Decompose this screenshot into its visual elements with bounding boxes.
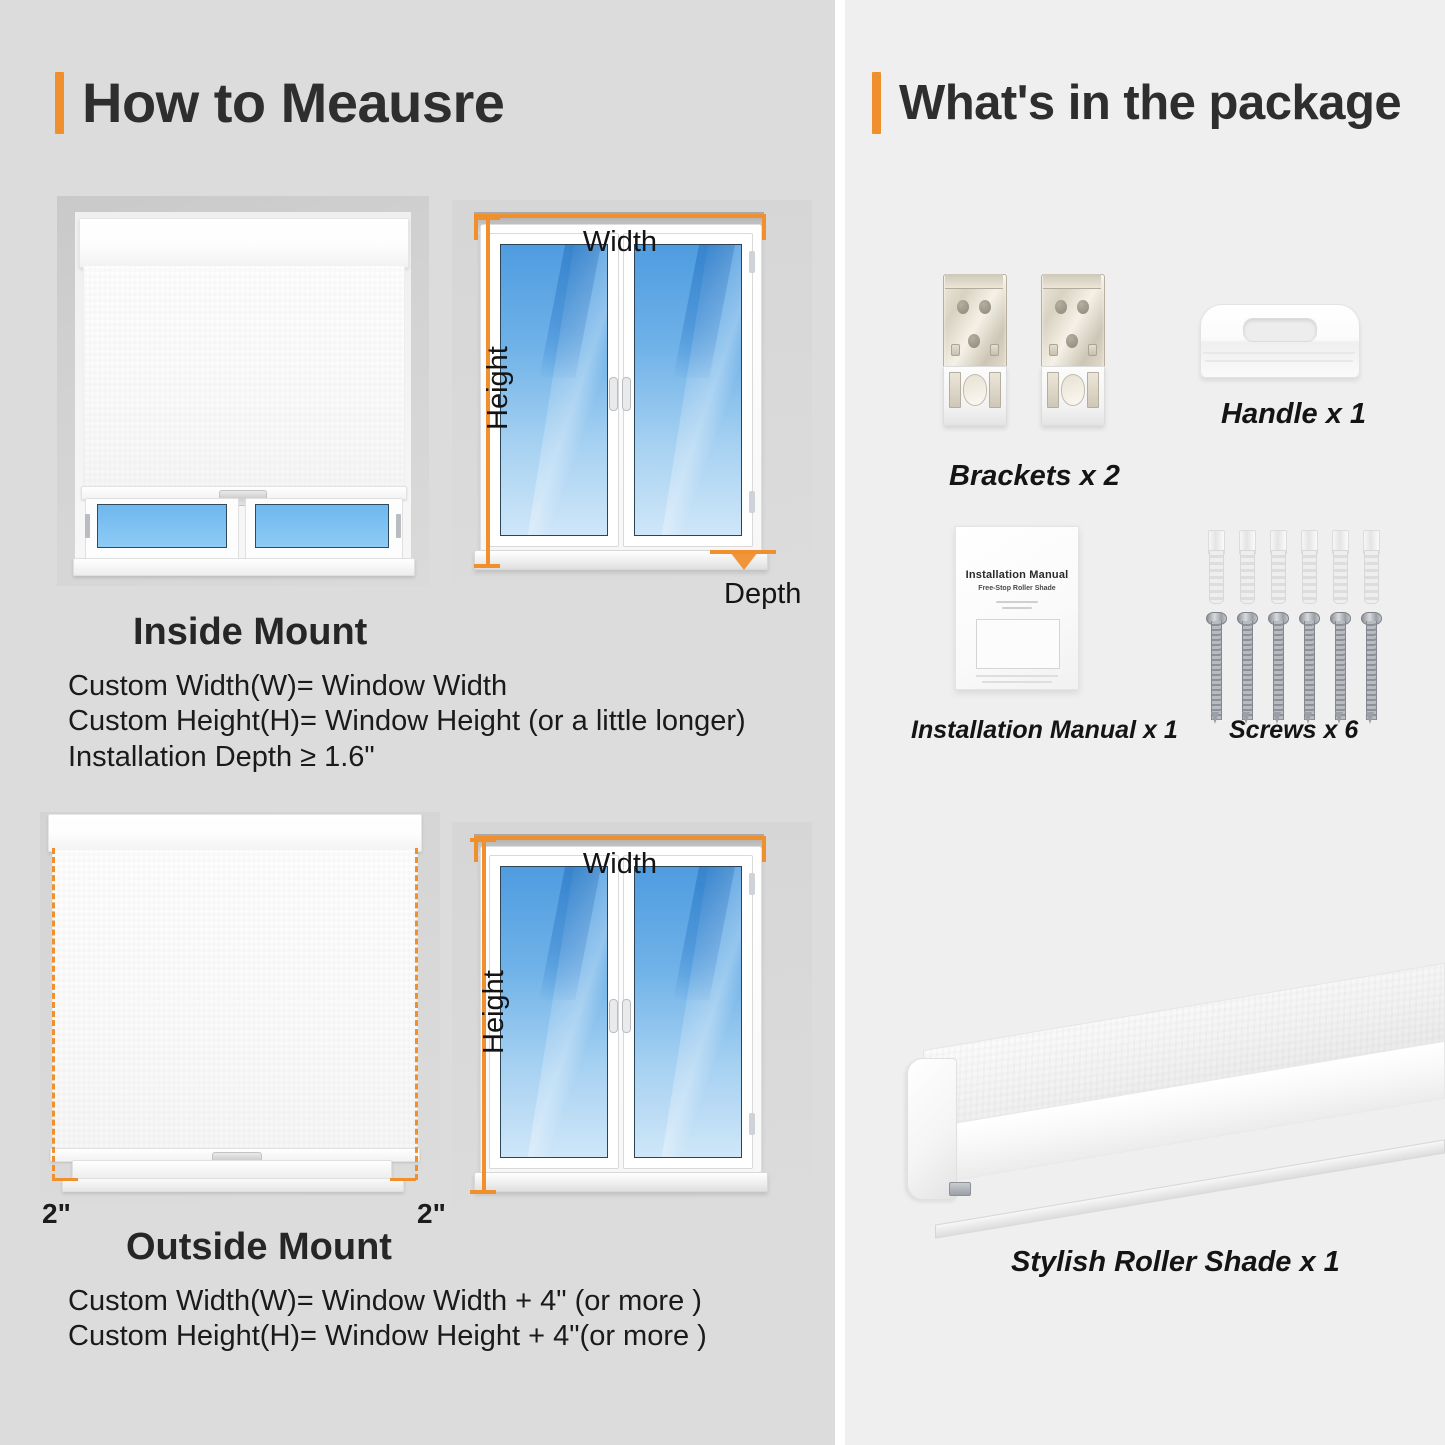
screws-label: Screws x 6 — [1229, 716, 1358, 745]
height-measure-cap-bottom-2 — [470, 1190, 496, 1194]
anchor-body-4 — [1302, 550, 1317, 604]
inside-mount-line-1: Custom Width(W)= Window Width — [68, 669, 746, 704]
screw-icon-5 — [1330, 612, 1349, 720]
overhang-label-right: 2" — [417, 1198, 446, 1230]
outside-mount-title: Outside Mount — [126, 1226, 392, 1269]
outside-mount-measure-diagram: Width Height — [452, 822, 812, 1222]
sash-hinge-top-2 — [749, 873, 755, 895]
overhang-tick-right — [390, 1178, 416, 1181]
width-measure-line — [474, 214, 766, 218]
screw-shaft-1 — [1211, 621, 1222, 720]
wall-anchor-icon-3 — [1268, 530, 1287, 602]
wall-anchor-icon-2 — [1237, 530, 1256, 602]
glass-pane-right — [634, 244, 742, 536]
window-sill — [73, 558, 415, 576]
outside-mount-line-2: Custom Height(H)= Window Height + 4"(or … — [68, 1319, 707, 1354]
manual-scribble-1 — [996, 601, 1038, 603]
overhang-label-left: 2" — [42, 1198, 71, 1230]
sash-hinge-bottom — [749, 491, 755, 513]
glass-pane-left — [500, 244, 608, 536]
window-handle-right-2[interactable] — [622, 999, 631, 1033]
manual-cover-subtitle: Free-Stop Roller Shade — [956, 585, 1078, 592]
window-handle-left-2[interactable] — [609, 999, 618, 1033]
height-label-2: Height — [478, 970, 511, 1054]
sash-hinge-bottom-2 — [749, 1113, 755, 1135]
window-glass-left — [97, 504, 227, 548]
anchor-body-6 — [1364, 550, 1379, 604]
anchor-body-2 — [1240, 550, 1255, 604]
outside-mount-text: Custom Width(W)= Window Width + 4" (or m… — [68, 1284, 707, 1355]
height-measure-cap-top-2 — [470, 838, 496, 842]
height-label: Height — [482, 346, 515, 430]
wall-anchor-icon-1 — [1206, 530, 1225, 602]
glass-pane-right-2 — [634, 866, 742, 1158]
screw-tip-1 — [1211, 712, 1219, 724]
manual-icon: Installation Manual Free-Stop Roller Sha… — [955, 526, 1079, 690]
anchor-body-1 — [1209, 550, 1224, 604]
width-measure-cap-right — [762, 214, 766, 240]
height-measure-cap-top — [474, 216, 500, 220]
screw-icon-3 — [1268, 612, 1287, 720]
infographic-page: How to Meausre — [0, 0, 1445, 1445]
roller-shade-label: Stylish Roller Shade x 1 — [1011, 1246, 1340, 1279]
screw-shaft-4 — [1304, 621, 1315, 720]
anchor-body-3 — [1271, 550, 1286, 604]
left-panel-heading: How to Meausre — [55, 72, 504, 134]
inside-mount-measure-diagram: Width Height Depth — [452, 200, 812, 600]
outside-mount-line-1: Custom Width(W)= Window Width + 4" (or m… — [68, 1284, 707, 1319]
window-handle-left[interactable] — [609, 377, 618, 411]
window-hinge-right — [396, 514, 401, 538]
window-outer-frame — [480, 224, 762, 556]
window-sill-outside — [72, 1160, 392, 1180]
shade-fabric — [83, 266, 405, 488]
brackets-label: Brackets x 2 — [949, 460, 1120, 493]
package-contents-panel: What's in the package — [845, 0, 1445, 1445]
screw-shaft-5 — [1335, 621, 1346, 720]
screw-shaft-2 — [1242, 621, 1253, 720]
sash-right-2 — [623, 855, 753, 1169]
depth-label: Depth — [724, 578, 801, 611]
glass-glint-right — [673, 245, 735, 378]
shade-valance — [79, 218, 409, 268]
sash-hinge-top — [749, 251, 755, 273]
screw-shaft-6 — [1366, 621, 1377, 720]
glass-glint-left-2 — [539, 867, 601, 1000]
panel-divider — [835, 0, 845, 1445]
screw-icon-2 — [1237, 612, 1256, 720]
screw-icon-6 — [1361, 612, 1380, 720]
manual-scribble-2 — [1002, 607, 1032, 609]
roller-shade-end-cap — [907, 1058, 957, 1200]
manual-footer-line-1 — [976, 675, 1058, 677]
how-to-measure-panel: How to Meausre — [0, 0, 835, 1445]
width-measure-cap-right-2 — [762, 836, 766, 862]
shade-fabric-outside — [52, 850, 418, 1150]
inside-mount-text: Custom Width(W)= Window Width Custom Hei… — [68, 669, 746, 775]
manual-cover-title: Installation Manual — [956, 569, 1078, 581]
wall-anchor-icon-5 — [1330, 530, 1349, 602]
inside-mount-title: Inside Mount — [133, 611, 367, 654]
outside-mount-shade-illustration — [40, 812, 440, 1202]
glass-glint-left — [539, 245, 601, 378]
accent-bar-icon — [55, 72, 64, 134]
manual-diagram-box — [976, 619, 1060, 669]
inside-mount-shade-illustration — [57, 196, 429, 586]
inside-mount-line-3: Installation Depth ≥ 1.6" — [68, 740, 746, 775]
left-heading-text: How to Meausre — [82, 75, 504, 131]
wall-anchor-icon-4 — [1299, 530, 1318, 602]
anchor-body-5 — [1333, 550, 1348, 604]
overhang-tick-left — [52, 1178, 78, 1181]
wall-anchor-icon-6 — [1361, 530, 1380, 602]
width-label-2: Width — [583, 848, 657, 881]
depth-measure-wedge — [730, 552, 758, 570]
window-hinge-left — [85, 514, 90, 538]
width-measure-line-2 — [474, 836, 766, 840]
roller-shade-icon — [845, 0, 1445, 420]
width-label: Width — [583, 226, 657, 259]
glass-pane-left-2 — [500, 866, 608, 1158]
glass-glint-right-2 — [673, 867, 735, 1000]
inside-mount-line-2: Custom Height(H)= Window Height (or a li… — [68, 704, 746, 739]
screw-icon-4 — [1299, 612, 1318, 720]
manual-label: Installation Manual x 1 — [911, 716, 1178, 745]
sash-right — [623, 233, 753, 547]
screw-tip-6 — [1366, 712, 1374, 724]
window-glass-right — [255, 504, 389, 548]
shade-valance-outside — [48, 814, 422, 852]
overhang-guide-left — [52, 848, 55, 1180]
overhang-guide-right — [415, 848, 418, 1180]
height-measure-cap-bottom — [474, 564, 500, 568]
screw-shaft-3 — [1273, 621, 1284, 720]
screw-icon-1 — [1206, 612, 1225, 720]
window-outer-frame-2 — [480, 846, 762, 1178]
window-sill-outside-lip — [62, 1178, 404, 1192]
diagram-window-sill-2 — [474, 1172, 768, 1192]
manual-footer-line-2 — [982, 681, 1052, 683]
roller-shade-end-pin — [949, 1182, 971, 1196]
window-handle-right[interactable] — [622, 377, 631, 411]
